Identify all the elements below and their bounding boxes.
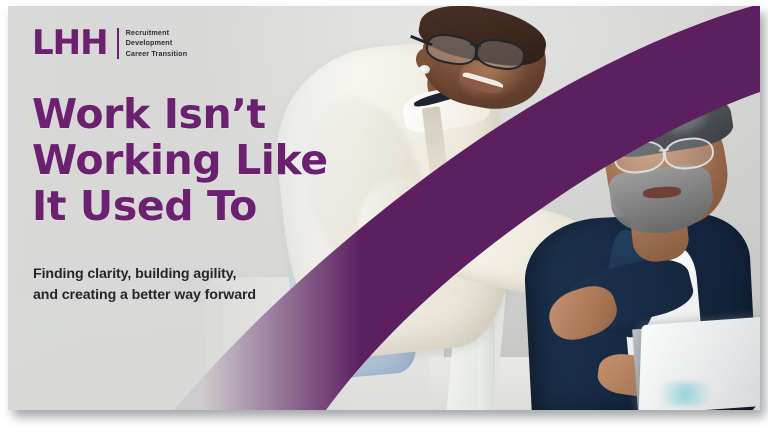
headline-line-3: It Used To <box>32 184 328 230</box>
logo-tagline: Recruitment Development Career Transitio… <box>126 28 188 59</box>
logo-tagline-line-2: Development <box>126 38 188 48</box>
logo-tagline-line-1: Recruitment <box>126 28 188 38</box>
logo-tagline-line-3: Career Transition <box>126 49 188 59</box>
logo-divider-rule <box>117 28 119 59</box>
logo-wordmark: LHH <box>32 30 108 58</box>
headline-line-1: Work Isn’t <box>32 92 328 138</box>
lhh-logo[interactable]: LHH Recruitment Development Career Trans… <box>32 28 187 59</box>
presentation-slide: LHH Recruitment Development Career Trans… <box>8 6 760 410</box>
slide-subtitle: Finding clarity, building agility, and c… <box>33 264 256 305</box>
subtitle-line-1: Finding clarity, building agility, <box>33 264 256 285</box>
slide-headline: Work Isn’t Working Like It Used To <box>32 92 328 230</box>
subtitle-line-2: and creating a better way forward <box>33 285 256 306</box>
headline-line-2: Working Like <box>32 138 328 184</box>
